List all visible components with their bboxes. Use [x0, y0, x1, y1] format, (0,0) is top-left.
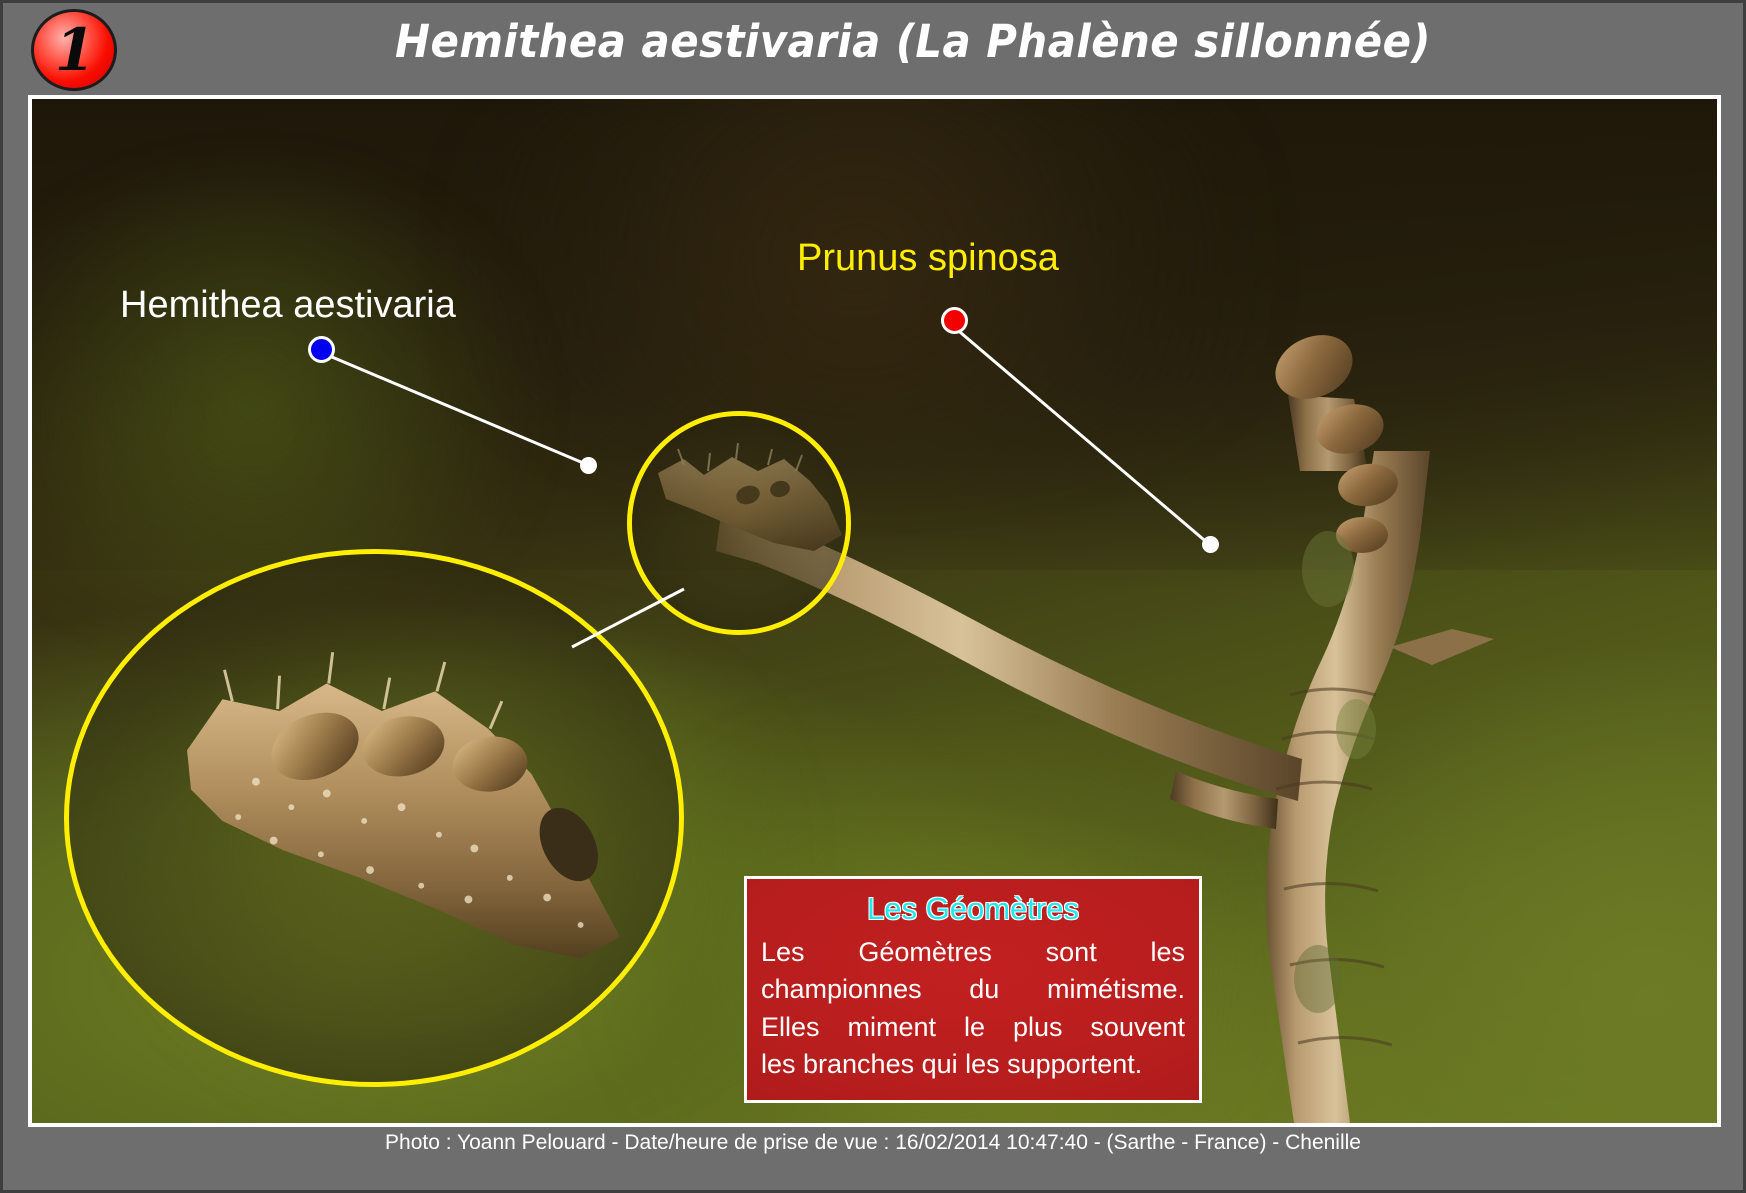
slide-number-label: 1 [34, 12, 114, 88]
marker-dot-plant[interactable] [941, 307, 968, 334]
slide-number-badge: 1 [31, 9, 117, 91]
magnifier-circle-large [64, 549, 684, 1087]
info-box-line-4: les branches qui les supportent. [761, 1047, 1185, 1081]
slide-root: 1 Hemithea aestivaria (La Phalène sillon… [0, 0, 1746, 1193]
leader-endpoint-plant [1202, 536, 1219, 553]
marker-dot-insect[interactable] [308, 336, 335, 363]
macro-photograph: Hemithea aestivaria Prunus spinosa Les G… [32, 99, 1717, 1123]
info-box-line-1: Les Géomètres sont les [761, 935, 1185, 969]
header-bar: 1 Hemithea aestivaria (La Phalène sillon… [3, 3, 1743, 98]
photo-caption: Photo : Yoann Pelouard - Date/heure de p… [3, 1131, 1743, 1155]
photo-frame: Hemithea aestivaria Prunus spinosa Les G… [28, 95, 1721, 1127]
label-insect: Hemithea aestivaria [120, 284, 456, 327]
twig-thorn [1390, 629, 1494, 665]
info-box-title: Les Géomètres [747, 891, 1199, 927]
leader-endpoint-insect [580, 457, 597, 474]
bud-apex [1265, 323, 1362, 410]
info-box-line-2: championnes du mimétisme. [761, 972, 1185, 1006]
info-box-line-3: Elles miment le plus souvent [761, 1010, 1185, 1044]
page-title: Hemithea aestivaria (La Phalène sillonné… [178, 15, 1647, 68]
info-box: Les Géomètres Les Géomètres sont les cha… [744, 876, 1202, 1103]
label-plant: Prunus spinosa [797, 237, 1059, 280]
caterpillar-zoom-illustration [69, 554, 679, 1082]
